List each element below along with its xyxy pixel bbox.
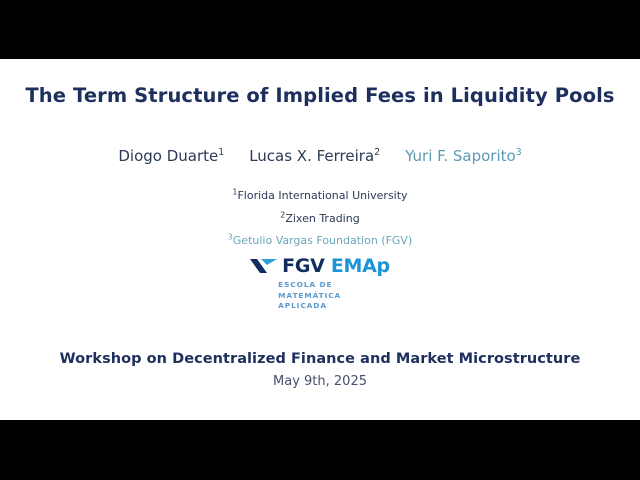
event-date: May 9th, 2025: [273, 374, 367, 390]
author-1: Diogo Duarte1: [118, 147, 224, 165]
author-2: Lucas X. Ferreira2: [249, 147, 380, 165]
fgv-chevron-mark-icon: [250, 258, 277, 274]
affiliation-2-text: Zixen Trading: [285, 212, 359, 225]
affiliation-1: 1Florida International University: [232, 189, 407, 202]
letterbox-bar-top: [0, 0, 640, 59]
author-2-name: Lucas X. Ferreira: [249, 147, 374, 165]
affiliation-3-text: Getulio Vargas Foundation (FGV): [233, 234, 412, 247]
logo-subtitle-line-3: APLICADA: [278, 301, 341, 312]
affiliation-2: 2Zixen Trading: [280, 212, 359, 225]
author-2-affiliation-marker: 2: [374, 147, 380, 158]
fgv-emap-logo-subtitle: ESCOLA DE MATEMÁTICA APLICADA: [278, 280, 341, 312]
logo-subtitle-line-1: ESCOLA DE: [278, 280, 341, 291]
fgv-wordmark-text: FGV: [282, 255, 324, 277]
affiliation-3: 3Getulio Vargas Foundation (FGV): [228, 234, 413, 247]
author-3-affiliation-marker: 3: [516, 147, 522, 158]
slide-title: The Term Structure of Implied Fees in Li…: [25, 85, 614, 107]
affiliation-1-text: Florida International University: [237, 189, 407, 202]
logo-subtitle-line-2: MATEMÁTICA: [278, 291, 341, 302]
slide-footer: Workshop on Decentralized Finance and Ma…: [60, 351, 581, 390]
emap-wordmark-text: EMAp: [331, 255, 390, 277]
author-list: Diogo Duarte1 Lucas X. Ferreira2 Yuri F.…: [118, 147, 521, 165]
presentation-title-slide: The Term Structure of Implied Fees in Li…: [0, 59, 640, 420]
author-1-name: Diogo Duarte: [118, 147, 218, 165]
fgv-emap-wordmark: FGV EMAp: [282, 257, 390, 276]
author-3-name: Yuri F. Saporito: [405, 147, 516, 165]
video-player-frame: The Term Structure of Implied Fees in Li…: [0, 0, 640, 480]
fgv-emap-logo-wordmark-row: FGV EMAp: [250, 257, 390, 276]
letterbox-bar-bottom: [0, 420, 640, 480]
author-3: Yuri F. Saporito3: [405, 147, 522, 165]
affiliation-list: 1Florida International University 2Zixen…: [228, 189, 413, 247]
fgv-emap-logo: FGV EMAp ESCOLA DE MATEMÁTICA APLICADA: [250, 257, 390, 312]
author-1-affiliation-marker: 1: [218, 147, 224, 158]
event-venue: Workshop on Decentralized Finance and Ma…: [60, 351, 581, 368]
